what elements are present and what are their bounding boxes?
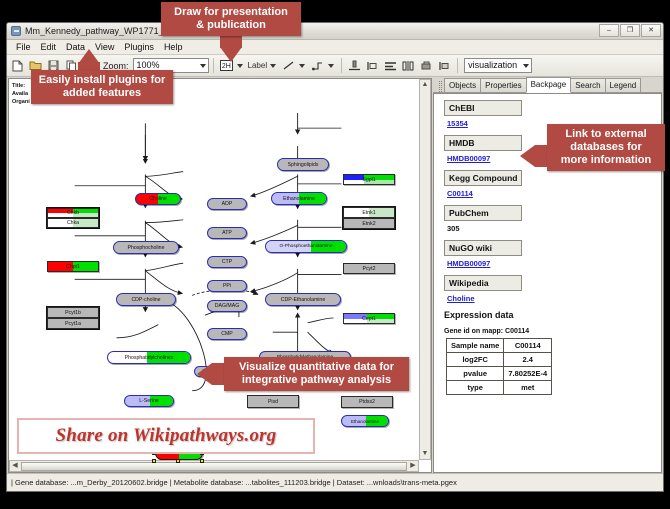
callout-visualize-line2: integrative pathway analysis: [230, 374, 403, 387]
node-label: O-Phosphoethanolamine: [279, 244, 332, 249]
canvas-title-line-2: Availa: [12, 91, 28, 97]
db-link-wikipedia[interactable]: Choline: [447, 294, 661, 303]
tab-objects[interactable]: Objects: [444, 78, 481, 92]
menu-bar: File Edit Data View Plugins Help: [7, 40, 663, 55]
node-ppi[interactable]: PPi: [207, 280, 247, 292]
canvas-vscrollbar[interactable]: ▲ ▼: [419, 79, 431, 460]
node-phosphocholine[interactable]: Phosphocholine: [113, 241, 179, 254]
gene-etnk1[interactable]: Etnk1: [343, 207, 395, 218]
distribute-icon[interactable]: [400, 57, 417, 74]
share-banner-text: Share on Wikipathways.org: [56, 425, 277, 447]
node-ethanolamine-bottom[interactable]: Ethanolamine: [341, 415, 389, 427]
tab-drag-handle[interactable]: [439, 81, 442, 92]
zoom-label: Zoom:: [103, 61, 129, 71]
gene-pcyt1b[interactable]: Pcyt1b: [47, 307, 99, 318]
align-left-icon[interactable]: [364, 57, 381, 74]
callout-plugins-line1: Easily install plugins for: [37, 74, 167, 87]
node-label: Ethanolamine: [351, 419, 379, 424]
node-cdp-choline[interactable]: CDP-choline: [116, 293, 176, 306]
callout-links-line1: Link to external: [553, 128, 659, 141]
node-l-serine-left[interactable]: L-Serine: [124, 395, 174, 407]
hscroll-thumb[interactable]: [21, 462, 407, 471]
node-ethanolamine[interactable]: Ethanolamine: [271, 192, 327, 205]
gene-label: Etnk1: [362, 210, 375, 216]
menu-edit[interactable]: Edit: [36, 42, 62, 52]
pathway-edges: [9, 79, 431, 472]
cell-value-log2fc: 2.4: [504, 353, 552, 367]
gene-label: Etnk2: [362, 221, 375, 227]
callout-draw-line1: Draw for presentation: [167, 6, 295, 19]
callout-draw: Draw for presentation & publication: [161, 2, 301, 36]
db-header-pubchem: PubChem: [444, 205, 522, 221]
table-row: log2FC 2.4: [447, 353, 552, 367]
stack-icon[interactable]: [382, 57, 399, 74]
align-bottom-icon[interactable]: [346, 57, 363, 74]
gene-label: Chka: [67, 220, 79, 226]
gene-label: Chkb: [67, 210, 79, 216]
menu-file[interactable]: File: [11, 42, 36, 52]
cell-label-log2fc: log2FC: [447, 353, 504, 367]
svg-text:2H: 2H: [221, 63, 230, 70]
anchor-dropdown-icon[interactable]: [328, 64, 334, 68]
new-file-icon[interactable]: [9, 57, 26, 74]
menu-plugins[interactable]: Plugins: [119, 42, 159, 52]
cell-label-type: type: [447, 381, 504, 395]
node-label: Phosphatidylcholines: [125, 355, 174, 361]
node-label: Sphingolipids: [288, 162, 319, 168]
tab-properties[interactable]: Properties: [480, 78, 526, 92]
node-label: Choline: [149, 196, 167, 202]
pathway-canvas-panel[interactable]: Title: Availa Organi: [8, 78, 432, 473]
db-header-hmdb: HMDB: [444, 135, 522, 151]
gene-sgpl1[interactable]: Sgpl1: [343, 174, 395, 185]
minimize-button[interactable]: –: [599, 24, 619, 37]
gene-cept1[interactable]: Cept1: [343, 313, 395, 324]
gene-label: Chpt1: [66, 264, 80, 270]
chevron-down-icon: [200, 64, 206, 68]
node-label: CMP: [221, 331, 233, 337]
node-label: PPi: [223, 283, 231, 289]
callout-plugins-arrow-icon: [78, 49, 100, 64]
toolbar-separator-2: [341, 58, 342, 73]
db-section-pubchem: PubChem 305: [444, 205, 661, 233]
status-text: | Gene database: ...m_Derby_20120602.bri…: [11, 478, 457, 487]
menu-help[interactable]: Help: [159, 42, 188, 52]
title-bar: Mm_Kennedy_pathway_WP1771_45176.gpml – ❐…: [7, 23, 663, 40]
db-section-kegg: Kegg Compound C00114: [444, 170, 661, 198]
toolbar-separator: [213, 58, 214, 73]
node-label: CDP-Ethanolamine: [281, 297, 325, 303]
gene-chka[interactable]: Chka: [47, 218, 99, 228]
db-header-chebi: ChEBI: [444, 100, 522, 116]
callout-visualize-line1: Visualize quantitative data for: [230, 361, 403, 374]
line-dropdown-icon[interactable]: [299, 64, 305, 68]
callout-links-arrow-icon: [520, 145, 535, 167]
scroll-left-icon[interactable]: ◀: [10, 461, 20, 471]
cell-value-pvalue: 7.80252E-4: [504, 367, 552, 381]
db-header-nugo: NuGO wiki: [444, 240, 522, 256]
order-icon[interactable]: [436, 57, 453, 74]
canvas-title-line-3: Organi: [12, 99, 30, 105]
node-label: DAG/MAG: [215, 303, 240, 309]
tab-backpage[interactable]: Backpage: [526, 77, 572, 93]
canvas-hscrollbar[interactable]: ◀ ▶: [9, 460, 419, 472]
gene-label: Cept1: [362, 316, 376, 322]
toolbar-separator-3: [457, 58, 458, 73]
gene-ptdss2[interactable]: Ptdss2: [341, 396, 393, 408]
group-icon[interactable]: [418, 57, 435, 74]
right-panel-tabs: Objects Properties Backpage Search Legen…: [433, 78, 662, 93]
node-cmp[interactable]: CMP: [207, 328, 247, 340]
line-tool-icon[interactable]: [280, 57, 297, 74]
node-label: ADP: [222, 201, 233, 207]
screenshot-root: Mm_Kennedy_pathway_WP1771_45176.gpml – ❐…: [0, 0, 670, 509]
node-ctp[interactable]: CTP: [207, 256, 247, 268]
scroll-up-icon[interactable]: ▲: [420, 80, 430, 90]
selection-handle-sw[interactable]: [152, 459, 156, 463]
node-o-phosphoethanolamine[interactable]: O-Phosphoethanolamine: [265, 240, 347, 253]
anchor-tool-icon[interactable]: [309, 57, 326, 74]
callout-plugins-line2: added features: [37, 87, 167, 100]
node-dagmag[interactable]: DAG/MAG: [207, 300, 247, 312]
share-banner: Share on Wikipathways.org: [17, 418, 315, 454]
expression-data-table: Sample name C00114 log2FC 2.4 pvalue 7.8…: [446, 338, 552, 395]
window-controls: – ❐ ✕: [599, 24, 661, 37]
node-label: ATP: [222, 230, 232, 236]
selection-handle-s[interactable]: [176, 459, 180, 463]
canvas-title-line-1: Title:: [12, 83, 25, 89]
callout-visualize: Visualize quantitative data for integrat…: [224, 357, 409, 391]
datanode-dropdown-icon[interactable]: [237, 64, 243, 68]
callout-plugins: Easily install plugins for added feature…: [31, 70, 173, 104]
chevron-down-icon-2: [523, 64, 529, 68]
db-link-nugo[interactable]: HMDB00097: [447, 259, 661, 268]
gene-etnk2[interactable]: Etnk2: [343, 218, 395, 229]
node-cdp-ethanolamine[interactable]: CDP-Ethanolamine: [265, 293, 341, 306]
callout-links-line3: more information: [553, 154, 659, 167]
zoom-value: 100%: [137, 60, 160, 70]
callout-draw-line2: & publication: [167, 19, 295, 32]
selection-handle-se[interactable]: [200, 459, 204, 463]
db-link-kegg[interactable]: C00114: [447, 189, 661, 198]
gene-label: Pcyt2: [363, 266, 376, 272]
gene-chpt1[interactable]: Chpt1: [47, 261, 99, 272]
status-bar: | Gene database: ...m_Derby_20120602.bri…: [7, 473, 663, 491]
table-row: Sample name C00114: [447, 339, 552, 353]
callout-links: Link to external databases for more info…: [547, 124, 665, 171]
app-icon: [11, 26, 21, 36]
tab-legend[interactable]: Legend: [605, 78, 642, 92]
db-value-pubchem: 305: [447, 224, 661, 233]
gene-label: Pcyt1b: [65, 310, 81, 316]
node-phosphatidylcholines[interactable]: Phosphatidylcholines: [107, 351, 191, 364]
node-adp[interactable]: ADP: [207, 198, 247, 210]
table-row: type met: [447, 381, 552, 395]
node-label: CDP-choline: [131, 297, 160, 303]
callout-visualize-arrow-icon: [197, 363, 212, 385]
db-section-nugo: NuGO wiki HMDB00097: [444, 240, 661, 268]
db-section-wikipedia: Wikipedia Choline: [444, 275, 661, 303]
visualization-combo[interactable]: visualization: [464, 58, 532, 73]
maximize-button[interactable]: ❐: [620, 24, 640, 37]
scroll-down-icon[interactable]: ▼: [420, 449, 430, 459]
scroll-right-icon[interactable]: ▶: [408, 461, 418, 471]
node-sphingolipids[interactable]: Sphingolipids: [277, 158, 329, 171]
label-dropdown-icon[interactable]: [270, 64, 276, 68]
gene-pisd[interactable]: Pisd: [247, 395, 299, 408]
tab-search[interactable]: Search: [570, 78, 605, 92]
gene-label: Pcyt1a: [65, 321, 81, 327]
db-header-wikipedia: Wikipedia: [444, 275, 522, 291]
gene-pcyt1a[interactable]: Pcyt1a: [47, 318, 99, 329]
node-label: Ethanolamine: [283, 196, 315, 202]
gene-id-on-mapp: Gene id on mapp: C00114: [444, 328, 661, 335]
node-label: CTP: [222, 259, 232, 265]
gene-label: Pisd: [268, 399, 278, 405]
cell-label-sample-name: Sample name: [447, 339, 504, 353]
label-tool[interactable]: Label: [247, 61, 269, 70]
gene-label: Ptdss2: [359, 399, 375, 405]
close-button[interactable]: ✕: [641, 24, 661, 37]
cell-value-sample-name: C00114: [504, 339, 552, 353]
node-choline-top[interactable]: Choline: [135, 193, 181, 205]
callout-draw-arrow-icon: [220, 47, 242, 62]
node-label: Phosphocholine: [128, 245, 165, 251]
expression-data-heading: Expression data: [444, 310, 661, 320]
visualization-value: visualization: [468, 60, 517, 70]
gene-pcyt2[interactable]: Pcyt2: [343, 263, 395, 274]
node-atp[interactable]: ATP: [207, 227, 247, 239]
db-header-kegg: Kegg Compound: [444, 170, 522, 186]
cell-value-type: met: [504, 381, 552, 395]
table-row: pvalue 7.80252E-4: [447, 367, 552, 381]
pathway-canvas[interactable]: Title: Availa Organi: [9, 79, 431, 472]
gene-label: Sgpl1: [362, 177, 375, 183]
node-label: L-Serine: [139, 398, 159, 404]
gene-chkb[interactable]: Chkb: [47, 208, 99, 218]
callout-links-line2: databases for: [553, 141, 659, 154]
cell-label-pvalue: pvalue: [447, 367, 504, 381]
